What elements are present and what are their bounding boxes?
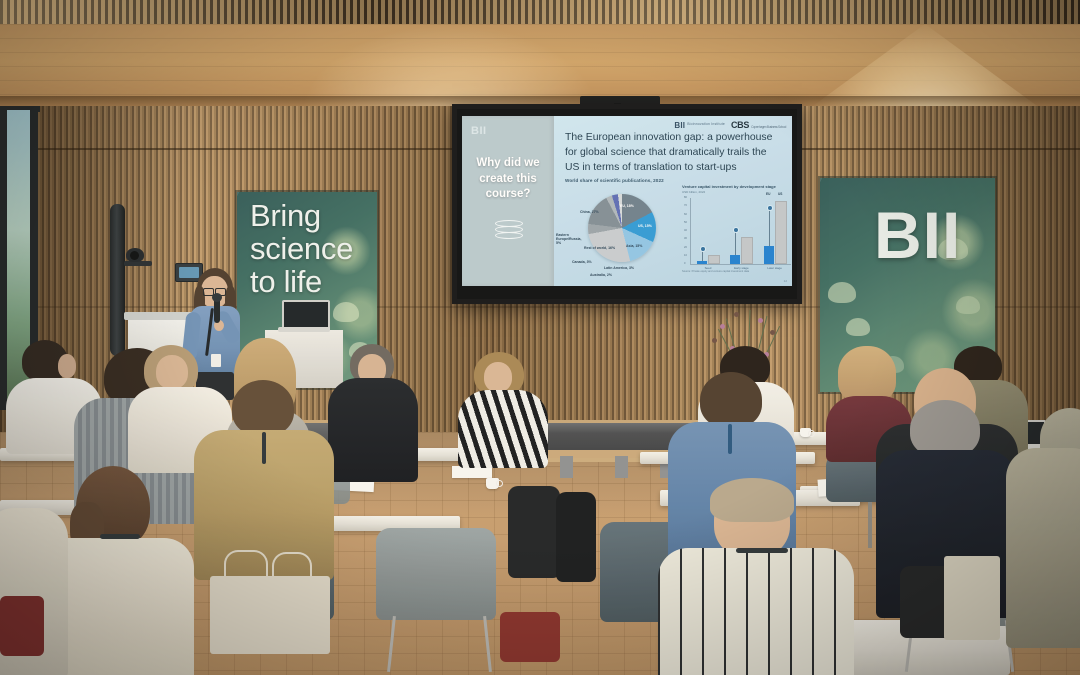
coffee-cup xyxy=(486,478,499,489)
stacked-books-icon xyxy=(495,220,521,242)
bar-chart-y-tick: 30 xyxy=(684,237,687,240)
bar-chart-y-tick: 20 xyxy=(684,246,687,249)
pie-label: Eastern Europe/Russia, 5% xyxy=(556,233,582,245)
bar-chart-bar xyxy=(708,255,720,264)
audience-member xyxy=(460,352,544,462)
stage-leg xyxy=(560,456,573,478)
bar-chart-whisker xyxy=(702,251,703,261)
bar-chart-bar xyxy=(775,201,787,264)
slide-content-panel: BIIBioinnovation Institute CBSCopenhagen… xyxy=(554,116,792,286)
projection-screen: BII Why did we create this course? BIIBi… xyxy=(452,104,802,304)
bar-chart-marker xyxy=(767,205,773,211)
bar-chart: Venture capital investment by developmen… xyxy=(682,184,794,280)
backpack xyxy=(508,486,560,578)
backpack xyxy=(556,492,596,582)
audience-member xyxy=(658,482,848,675)
banner-bii-text: BII xyxy=(874,202,961,268)
tote-bag xyxy=(210,576,330,654)
bar-chart-bar xyxy=(730,255,740,264)
pie-chart: EU, 18% US, 15% Asia, 15% China, 27% Eas… xyxy=(564,188,672,280)
bar-chart-y-tick: 60 xyxy=(684,213,687,216)
slide-bii-logo: BII xyxy=(471,125,487,137)
bar-chart-y-tick: 40 xyxy=(684,229,687,232)
lecture-hall-photo: Bring science to life BII BII Why did we… xyxy=(0,0,1080,675)
bar-chart-footnote: Source: Private equity and venture capit… xyxy=(682,270,749,273)
bar-chart-whisker xyxy=(735,231,736,255)
audience-member xyxy=(196,380,330,570)
bag xyxy=(0,596,44,656)
pie-label: Latin America, 3% xyxy=(604,266,634,270)
presentation-slide: BII Why did we create this course? BIIBi… xyxy=(462,116,792,286)
slide-logo-row: BIIBioinnovation Institute CBSCopenhagen… xyxy=(674,120,786,130)
slide-left-panel: BII Why did we create this course? xyxy=(462,116,554,286)
table-leg xyxy=(868,502,872,548)
coffee-cup xyxy=(800,428,811,437)
bar-legend-eu: EU xyxy=(766,192,770,196)
bar-legend-us: US xyxy=(778,192,782,196)
bar-chart-subtitle: USD billion, 2022 xyxy=(682,190,705,194)
bar-chart-marker xyxy=(700,246,706,252)
pie-label: Australia, 2% xyxy=(590,273,612,277)
audience-member xyxy=(332,344,412,474)
window-mullion xyxy=(0,110,7,410)
bar-chart-title: Venture capital investment by developmen… xyxy=(682,184,776,189)
bar-chart-plot-area: 01020304050607080SeedEarly stageLater st… xyxy=(690,198,791,265)
slide-question-text: Why did we create this course? xyxy=(468,156,548,203)
bar-chart-y-tick: 50 xyxy=(684,221,687,224)
presenter-laptop xyxy=(278,300,328,332)
stage-leg xyxy=(615,456,628,478)
slide-page-number: 12 xyxy=(784,279,787,283)
bar-chart-y-tick: 0 xyxy=(684,262,685,265)
bar-chart-bar xyxy=(697,261,707,264)
pie-label: China, 27% xyxy=(580,210,599,214)
slatted-ceiling xyxy=(0,0,1080,26)
bar-chart-whisker xyxy=(769,208,770,246)
bar-chart-x-label: Later stage xyxy=(764,266,786,270)
wall-speaker-column xyxy=(110,204,125,356)
pie-label: Canada, 3% xyxy=(572,260,592,264)
pie-chart-title: World share of scientific publications, … xyxy=(565,178,664,183)
ptz-camera-icon xyxy=(124,248,152,266)
logo-bii: BIIBioinnovation Institute xyxy=(674,121,725,130)
bar-chart-marker xyxy=(733,227,739,233)
pie-label: US, 15% xyxy=(638,224,652,228)
logo-cbs: CBSCopenhagen Business School xyxy=(731,120,786,130)
banner-line-3: to life xyxy=(250,266,353,299)
pie-label: EU, 18% xyxy=(620,204,634,208)
bar-chart-y-tick: 80 xyxy=(684,196,687,199)
banner-line-2: science xyxy=(250,233,353,266)
chair[interactable] xyxy=(376,528,496,620)
pie-label: Rest of world, 16% xyxy=(584,246,615,250)
bar-chart-y-tick: 70 xyxy=(684,204,687,207)
tote-bag xyxy=(944,556,1000,640)
bar-chart-bar xyxy=(764,246,774,264)
banner-line-1: Bring xyxy=(250,200,353,233)
bar-chart-y-tick: 10 xyxy=(684,254,687,257)
bag xyxy=(500,612,560,662)
slide-title: The European innovation gap: a powerhous… xyxy=(565,130,782,175)
pie-label: Asia, 15% xyxy=(626,244,642,248)
handheld-microphone xyxy=(214,297,220,323)
bar-chart-bar xyxy=(741,237,753,264)
audience-member xyxy=(1006,448,1080,648)
